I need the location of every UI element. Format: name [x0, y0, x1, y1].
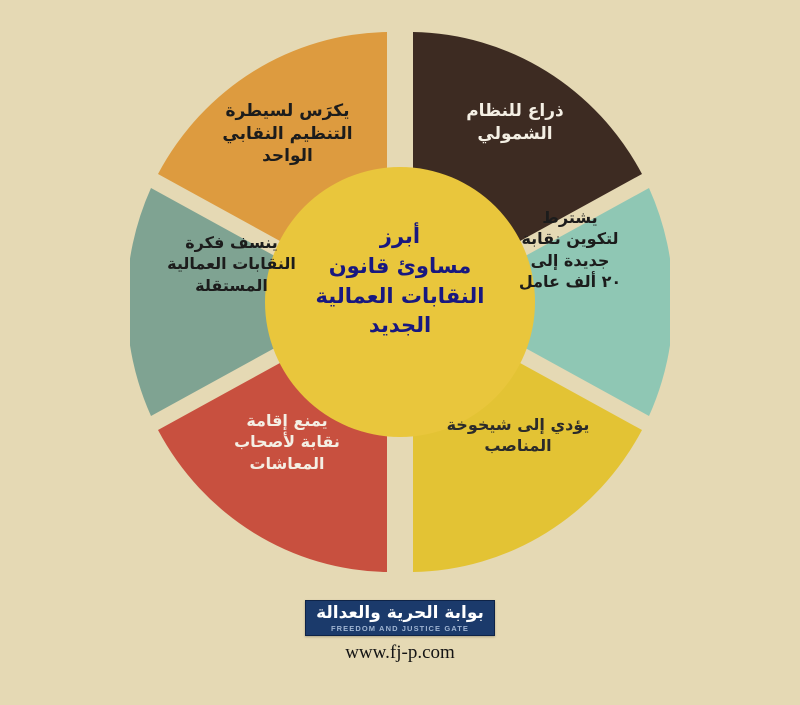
infographic-canvas: أبرز مساوئ قانون النقابات العمالية الجدي…: [0, 0, 800, 705]
logo-english-text: FREEDOM AND JUSTICE GATE: [331, 624, 469, 633]
footer: بوابة الحرية والعدالة FREEDOM AND JUSTIC…: [0, 600, 800, 664]
fj-gate-logo[interactable]: بوابة الحرية والعدالة FREEDOM AND JUSTIC…: [305, 600, 495, 636]
logo-arabic-text: بوابة الحرية والعدالة: [316, 604, 484, 623]
site-url: www.fj-p.com: [345, 642, 455, 664]
center-title: أبرز مساوئ قانون النقابات العمالية الجدي…: [265, 222, 535, 341]
donut-wheel: أبرز مساوئ قانون النقابات العمالية الجدي…: [130, 22, 670, 582]
